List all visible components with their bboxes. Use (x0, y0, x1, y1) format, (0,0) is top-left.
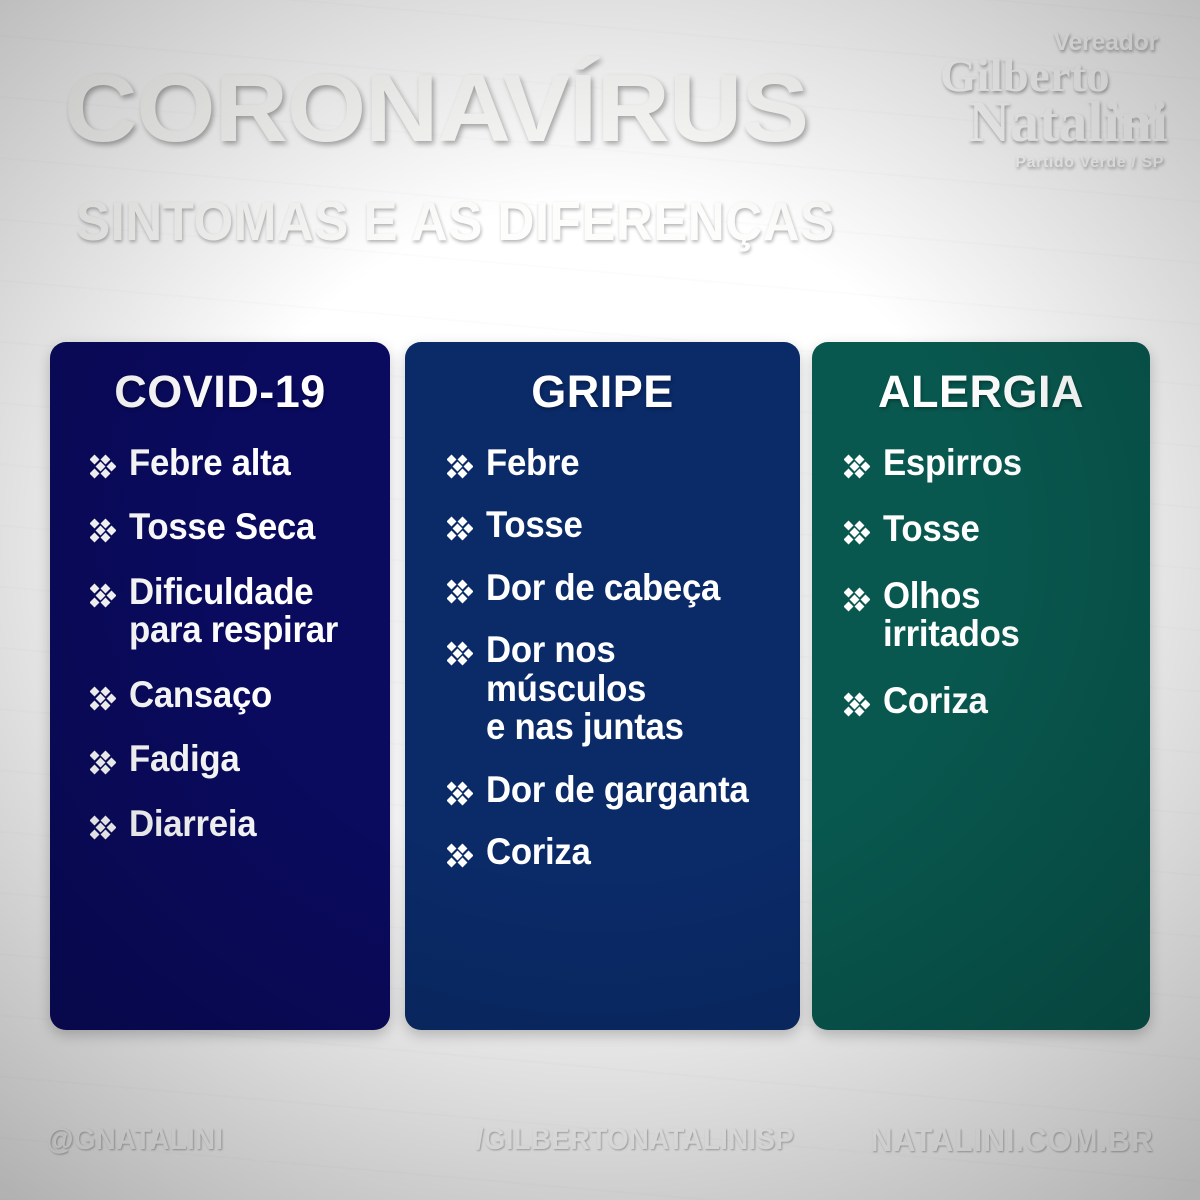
symptom-list-alergia: Espirros Tosse Olhos irritados Coriza (812, 444, 1150, 720)
symptom-label: Coriza (486, 833, 591, 871)
page-title: CORONAVÍRUS (64, 62, 808, 156)
symptom-label: Diarreia (129, 805, 256, 843)
symptom-label: Fadiga (129, 740, 239, 778)
symptom-label: Dor de garganta (486, 771, 748, 809)
social-handle[interactable]: /GILBERTONATALINISP (476, 1123, 794, 1157)
double-chevron-icon (90, 815, 116, 841)
double-chevron-icon (447, 781, 473, 807)
list-item: Dificuldade para respirar (50, 573, 390, 650)
double-chevron-icon (844, 520, 870, 546)
card-covid: COVID-19 Febre alta Tosse Seca Dificulda… (50, 342, 390, 1030)
double-chevron-icon (844, 692, 870, 718)
list-item: Tosse (405, 506, 800, 544)
symptom-label: Febre alta (129, 444, 290, 482)
symptom-label: Dificuldade para respirar (129, 573, 338, 650)
twitter-handle[interactable]: @GNATALINI (47, 1123, 224, 1157)
instagram-icon[interactable] (356, 1117, 402, 1163)
logo-party: Partido Verde / SP (940, 155, 1170, 171)
list-item: Cansaço (50, 676, 390, 714)
double-chevron-icon (447, 579, 473, 605)
symptom-label: Coriza (883, 682, 988, 720)
double-chevron-icon (90, 518, 116, 544)
symptom-label: Olhos irritados (883, 577, 1121, 654)
list-item: Dor de cabeça (405, 569, 800, 607)
symptom-label: Dor de cabeça (486, 569, 720, 607)
list-item: Coriza (405, 833, 800, 871)
double-chevron-icon (90, 454, 116, 480)
candidate-logo: Vereador Gilberto Natalini Partido Verde… (940, 30, 1170, 165)
double-chevron-icon (447, 641, 473, 667)
website-url[interactable]: NATALINI.COM.BR (870, 1122, 1153, 1159)
footer-divider (327, 1118, 330, 1162)
symptom-list-gripe: Febre Tosse Dor de cabeça Dor nos múscul… (405, 444, 800, 872)
leaf-in-circle-icon (1110, 76, 1164, 130)
list-item: Tosse (812, 510, 1150, 548)
symptom-label: Dor nos músculos e nas juntas (486, 631, 768, 746)
double-chevron-icon (844, 454, 870, 480)
list-item: Olhos irritados (812, 577, 1150, 654)
symptom-label: Tosse Seca (129, 508, 315, 546)
double-chevron-icon (90, 750, 116, 776)
list-item: Febre (405, 444, 800, 482)
footer-divider-2 (834, 1118, 837, 1162)
symptom-label: Cansaço (129, 676, 272, 714)
double-chevron-icon (844, 587, 870, 613)
symptom-list-covid: Febre alta Tosse Seca Dificuldade para r… (50, 444, 390, 843)
list-item: Dor nos músculos e nas juntas (405, 631, 800, 746)
list-item: Fadiga (50, 740, 390, 778)
list-item: Diarreia (50, 805, 390, 843)
list-item: Coriza (812, 682, 1150, 720)
double-chevron-icon (90, 583, 116, 609)
card-title-alergia: ALERGIA (812, 366, 1150, 418)
twitter-bird-icon[interactable] (247, 1117, 301, 1163)
symptom-label: Espirros (883, 444, 1022, 482)
double-chevron-icon (447, 843, 473, 869)
card-alergia: ALERGIA Espirros Tosse Olhos irritados C… (812, 342, 1150, 1030)
double-chevron-icon (447, 516, 473, 542)
list-item: Febre alta (50, 444, 390, 482)
facebook-icon[interactable] (418, 1116, 446, 1164)
card-gripe: GRIPE Febre Tosse Dor de cabeça Dor nos … (405, 342, 800, 1030)
symptom-label: Tosse (883, 510, 980, 548)
card-title-covid: COVID-19 (50, 366, 390, 418)
infographic-poster: CORONAVÍRUS SINTOMAS E AS DIFERENÇAS Ver… (0, 0, 1200, 1200)
list-item: Dor de garganta (405, 771, 800, 809)
list-item: Espirros (812, 444, 1150, 482)
double-chevron-icon (90, 686, 116, 712)
card-title-gripe: GRIPE (405, 366, 800, 418)
symptom-label: Tosse (486, 506, 583, 544)
page-subtitle: SINTOMAS E AS DIFERENÇAS (76, 194, 835, 249)
symptom-label: Febre (486, 444, 579, 482)
list-item: Tosse Seca (50, 508, 390, 546)
double-chevron-icon (447, 454, 473, 480)
footer-social-bar: @GNATALINI /GILBERTONATALINISP NATALINI.… (0, 1080, 1200, 1200)
